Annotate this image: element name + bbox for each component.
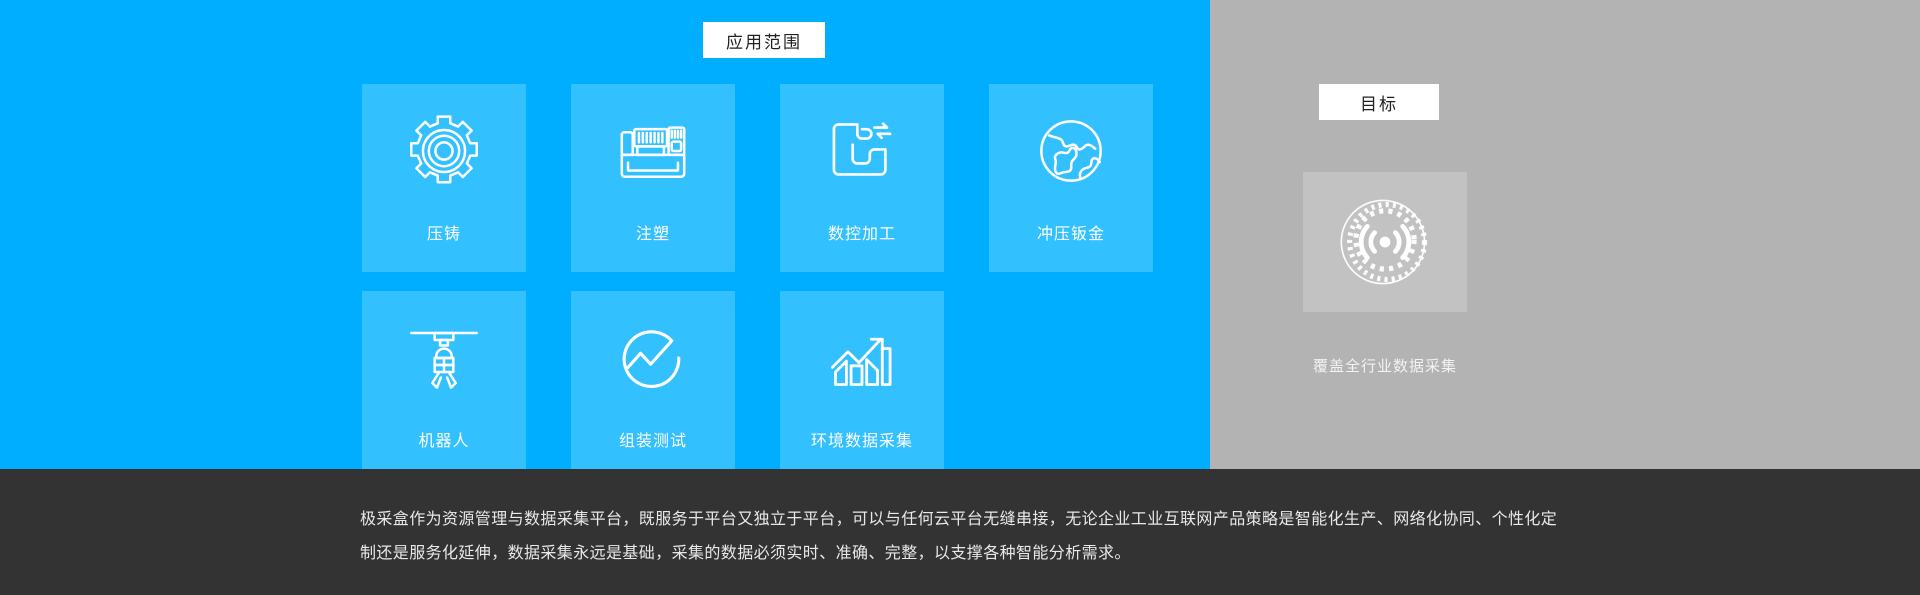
goal-caption: 覆盖全行业数据采集 xyxy=(1210,355,1560,376)
bar-chart-arrow-icon xyxy=(821,317,903,399)
tile-label: 组装测试 xyxy=(619,427,687,451)
application-scope-tile-grid: 压铸 xyxy=(362,84,958,479)
tile-label: 注塑 xyxy=(636,220,670,244)
cnc-machining-icon xyxy=(821,110,903,192)
tile-die-casting[interactable]: 压铸 xyxy=(362,84,526,272)
page-root: 应用范围 压铸 xyxy=(0,0,1920,595)
tile-label: 数控加工 xyxy=(828,220,896,244)
tile-label: 压铸 xyxy=(427,220,461,244)
gear-icon xyxy=(403,110,485,192)
tile-label: 环境数据采集 xyxy=(811,427,913,451)
tile-environment-data-collection[interactable]: 环境数据采集 xyxy=(780,291,944,479)
robot-gripper-icon xyxy=(403,317,485,399)
tile-assembly-test[interactable]: 组装测试 xyxy=(571,291,735,479)
line-chart-circle-icon xyxy=(612,317,694,399)
tile-stamping-sheet-metal[interactable]: 冲压钣金 xyxy=(989,84,1153,272)
injection-molding-machine-icon xyxy=(612,110,694,192)
goal-card[interactable] xyxy=(1303,172,1467,312)
tile-injection-molding[interactable]: 注塑 xyxy=(571,84,735,272)
tile-cnc-machining[interactable]: 数控加工 xyxy=(780,84,944,272)
tile-label: 机器人 xyxy=(418,427,469,451)
goal-title-chip: 目标 xyxy=(1319,84,1439,120)
wireless-signal-icon xyxy=(1333,190,1437,294)
application-scope-panel: 应用范围 压铸 xyxy=(0,0,1210,469)
application-scope-title-chip: 应用范围 xyxy=(703,22,825,58)
globe-icon xyxy=(1030,110,1112,192)
tile-robot[interactable]: 机器人 xyxy=(362,291,526,479)
tile-label: 冲压钣金 xyxy=(1037,220,1105,244)
footer-description: 极采盒作为资源管理与数据采集平台，既服务于平台又独立于平台，可以与任何云平台无缝… xyxy=(360,503,1570,571)
